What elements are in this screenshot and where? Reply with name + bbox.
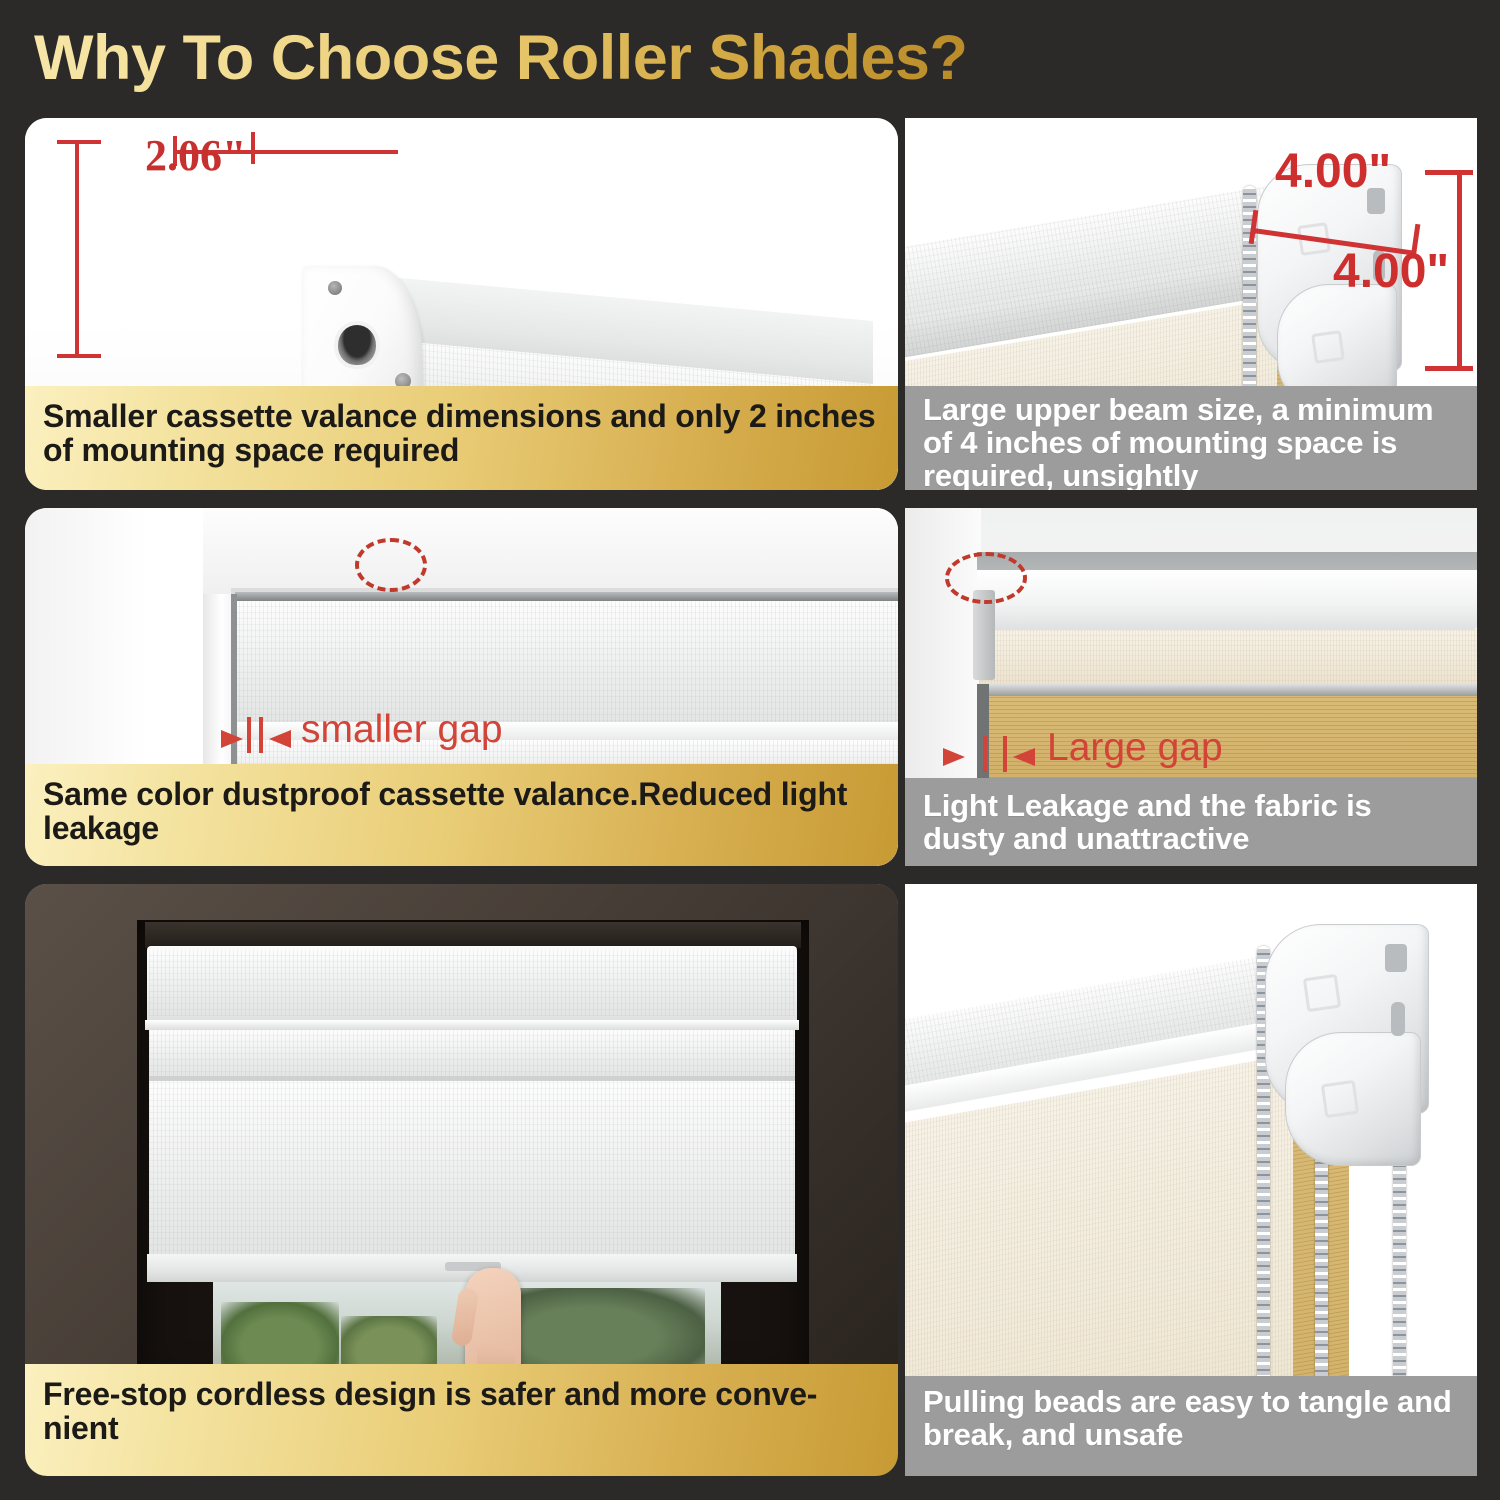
gap-tick-left <box>983 736 987 772</box>
beam-height-tick-bottom <box>1425 366 1473 371</box>
beam-beige-strip <box>979 630 1477 686</box>
beam-height-tick-top <box>1425 170 1473 175</box>
gap-arrow-right <box>1013 748 1035 766</box>
beam-width-dimension-label: 4.00" <box>1275 144 1391 199</box>
panel-caption-upper-beam-size: Large upper beam size, a minimum of 4 in… <box>905 386 1477 490</box>
beam-height-dimension-label: 4.00" <box>1333 244 1449 299</box>
page-title: Why To Choose Roller Shades? <box>34 22 967 94</box>
bracket-emboss-upper <box>1303 974 1341 1012</box>
bracket-emboss-lower <box>1311 330 1345 364</box>
beam-roll-white <box>977 570 1477 632</box>
cassette-screw-top <box>328 281 342 295</box>
gap-callout-label: Large gap <box>1047 726 1223 770</box>
window-recess-top <box>145 922 801 948</box>
panel-upper-beam-size: 4.00" 4.00" Large upper beam size, a min… <box>905 118 1477 490</box>
shade-headrail-lip <box>145 1020 799 1030</box>
panel-caption-dustproof-cassette: Same color dustproof cassette valance.Re… <box>25 764 898 866</box>
bracket-slot-lower <box>1391 1002 1405 1036</box>
height-dimension-tick-top <box>57 140 101 144</box>
height-dimension-tick-bottom <box>57 354 101 358</box>
panel-pulling-beads: Pulling beads are easy to tangle and bre… <box>905 884 1477 1476</box>
gap-tick-right <box>1003 736 1007 772</box>
bracket-emboss-lower <box>1321 1080 1359 1118</box>
panel-caption-pulling-beads: Pulling beads are easy to tangle and bre… <box>905 1376 1477 1476</box>
panel-caption-cordless-design: Free-stop cordless design is safer and m… <box>25 1364 898 1476</box>
gap-tick-left <box>247 717 251 753</box>
bracket-slot-upper <box>1385 944 1407 972</box>
panel-caption-cassette-dimensions: Smaller cassette valance dimensions and … <box>25 386 898 490</box>
panel-light-leakage: Large gap Light Leakage and the fabric i… <box>905 508 1477 866</box>
gap-arrow-left <box>943 748 965 766</box>
panel-dustproof-cassette: smaller gap Same color dustproof cassett… <box>25 508 898 866</box>
shade-headrail-fabric <box>149 950 795 1016</box>
shade-second-band <box>149 1030 795 1078</box>
window-trim-header <box>203 508 898 594</box>
cassette-clutch-opening <box>338 325 376 365</box>
gap-callout-label: smaller gap <box>301 708 503 752</box>
gap-tick-right <box>259 717 263 753</box>
panel-cassette-dimensions: 2.06" 5.49" Smaller cassette valance dim… <box>25 118 898 490</box>
cassette-top-rail <box>235 592 898 601</box>
width-dimension-label: 2.06" <box>145 130 246 181</box>
shade-left-edge-dark <box>231 594 237 788</box>
panel-caption-light-leakage: Light Leakage and the fabric is dusty an… <box>905 778 1477 866</box>
gap-arrow-left <box>221 730 243 748</box>
wall-left <box>905 508 981 778</box>
title-bar: Why To Choose Roller Shades? <box>0 0 1500 110</box>
gap-highlight-circle <box>355 538 427 592</box>
beam-height-dimension-line <box>1457 170 1462 370</box>
window-tree-right <box>495 1288 705 1376</box>
shade-main-fabric <box>149 1081 795 1257</box>
gap-highlight-circle <box>945 552 1027 604</box>
gap-arrow-right <box>269 730 291 748</box>
height-dimension-line <box>75 140 79 358</box>
width-dimension-tick-right <box>251 132 255 164</box>
beam-bottom-rail <box>979 684 1477 696</box>
panel-cordless-design: Free-stop cordless design is safer and m… <box>25 884 898 1476</box>
